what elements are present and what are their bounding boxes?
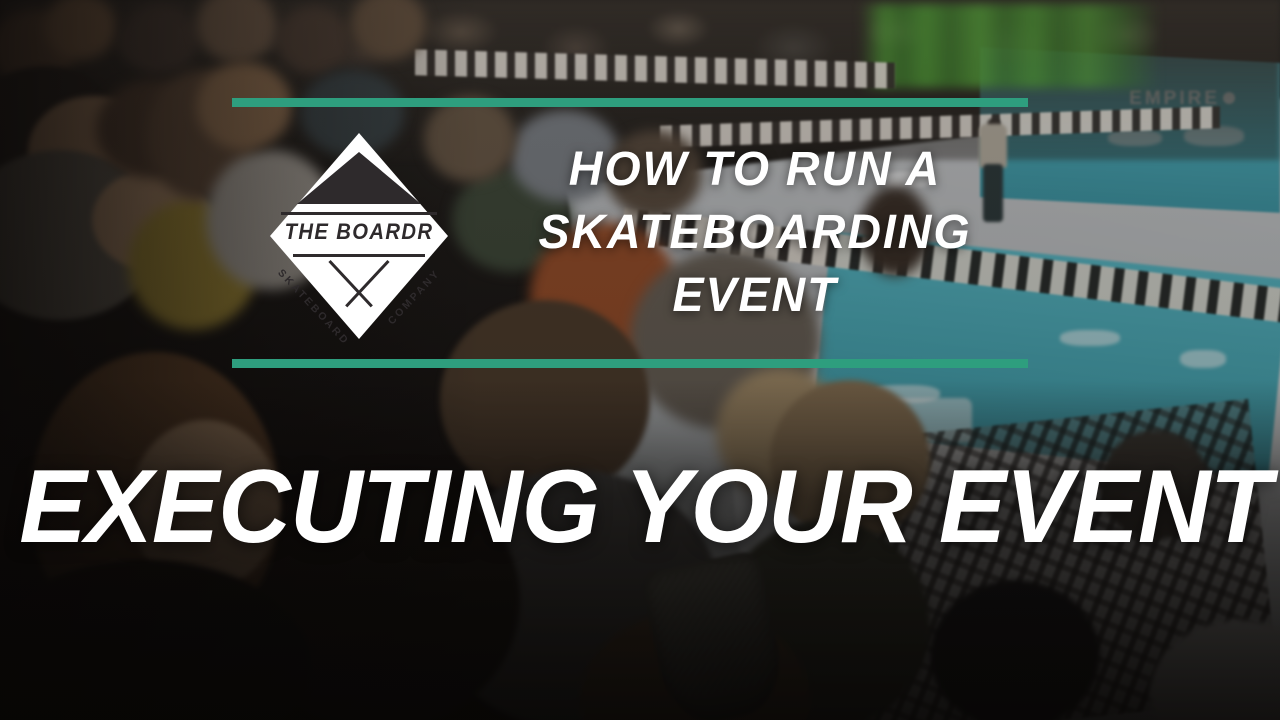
logo-divider-bottom [293,254,425,257]
logo-triangle-icon [297,152,421,204]
headline-line-3: EVENT [513,264,998,327]
accent-rule-top [232,98,1028,107]
main-title: EXECUTING YOUR EVENT [19,455,1261,559]
logo-chevron-divider [316,261,402,307]
logo-wordmark: THE BOARDR [277,219,441,245]
headline-block: HOW TO RUN A SKATEBOARDING EVENT [505,138,1005,327]
headline-line-1: HOW TO RUN A [513,138,998,201]
headline-line-2: SKATEBOARDING [513,201,998,264]
video-thumbnail: EMPIRE [0,0,1280,720]
accent-rule-bottom [232,359,1028,368]
the-boardr-logo: THE BOARDR SKATEBOARD COMPANY [270,133,448,339]
logo-divider-top [281,212,438,215]
